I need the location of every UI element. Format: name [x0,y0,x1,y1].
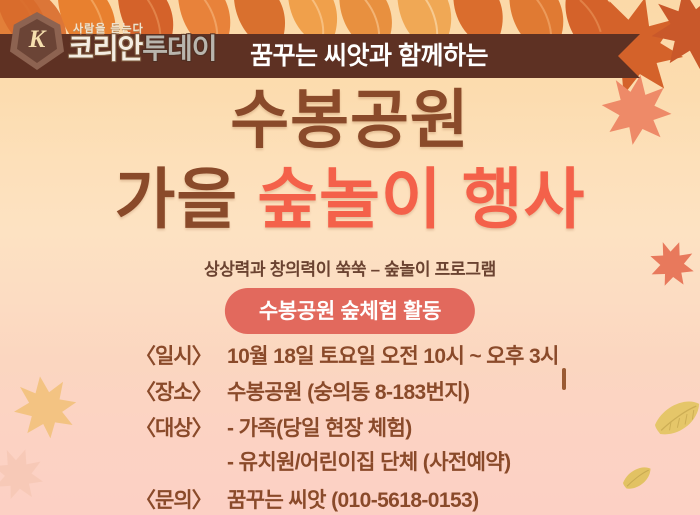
detail-value-audience-1: - 가족(당일 현장 체험) [227,412,565,442]
detail-value-date: 10월 18일 토요일 오전 10시 ~ 오후 3시 [227,340,565,370]
detail-row-audience: 〈대상〉 - 가족(당일 현장 체험) [0,412,700,442]
activity-badge: 수봉공원 숲체험 활동 [225,288,475,334]
title-line-2-coral: 숲놀이 행사 [257,162,585,236]
logo-name-today: 투데이 [142,33,216,64]
detail-label-audience: 〈대상〉 [135,412,227,442]
detail-label-location: 〈장소〉 [135,376,227,406]
poster-canvas: 꿈꾸는 씨앗과 함께하는 K 사람을 듣는다 코리안투데이 수봉공원 가을 숲놀… [0,0,700,515]
details-list: 〈일시〉 10월 18일 토요일 오전 10시 ~ 오후 3시 〈장소〉 수봉공… [0,340,700,515]
korean-today-logo[interactable]: K 사람을 듣는다 코리안투데이 [10,12,217,70]
title-line-2: 가을 숲놀이 행사 [0,166,700,232]
detail-row-location: 〈장소〉 수봉공원 (숭의동 8-183번지) [0,376,700,406]
detail-row-audience-2: 〈대상〉 - 유치원/어린이집 단체 (사전예약) [0,446,700,476]
logo-name-korean: 코리안 [68,33,142,64]
detail-row-contact: 〈문의〉 꿈꾸는 씨앗 (010-5618-0153) [0,484,700,514]
title-line-2-brown: 가을 [115,162,238,236]
subtitle: 상상력과 창의력이 쑥쑥 – 숲놀이 프로그램 [0,255,700,280]
detail-value-location: 수봉공원 (숭의동 8-183번지) [227,376,565,406]
detail-row-date: 〈일시〉 10월 18일 토요일 오전 10시 ~ 오후 3시 [0,340,700,370]
logo-wordmark: 코리안투데이 [68,35,217,63]
hexagon-k-icon: K [10,12,64,70]
logo-k-letter: K [10,12,64,70]
detail-label-date: 〈일시〉 [135,340,227,370]
detail-value-audience-2: - 유치원/어린이집 단체 (사전예약) [227,446,565,476]
detail-label-contact: 〈문의〉 [135,484,227,514]
detail-value-contact: 꿈꾸는 씨앗 (010-5618-0153) [227,484,565,514]
title-line-1: 수봉공원 [0,88,700,152]
